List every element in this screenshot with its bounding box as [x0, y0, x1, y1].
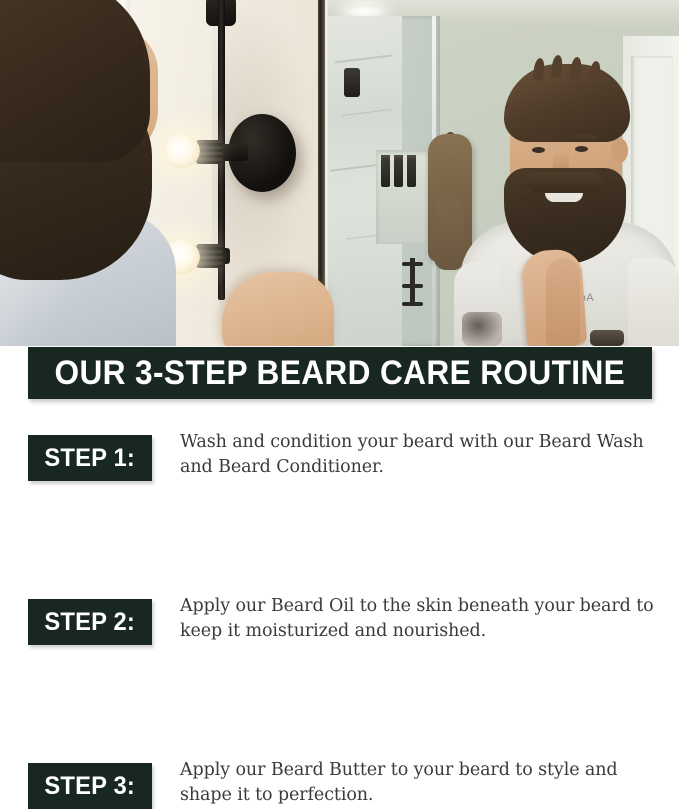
hanging-towel-fold [434, 200, 464, 270]
reflected-hand-second [546, 258, 580, 346]
step-1-text: Wash and condition your beard with our B… [180, 430, 670, 480]
step-row-3: STEP 3: Apply our Beard Butter to your b… [0, 576, 679, 658]
reflected-hair [504, 64, 630, 142]
product-bottle [381, 158, 390, 187]
step-3-label: STEP 3: [45, 772, 136, 801]
mirror-reflection: Actions [328, 0, 679, 346]
title-banner: OUR 3-STEP BEARD CARE ROUTINE [28, 347, 652, 399]
step-1-label: STEP 1: [45, 444, 136, 473]
marble-vein [342, 109, 392, 116]
hero-photo: Actions [0, 0, 679, 346]
steps-list: STEP 1: Wash and condition your beard wi… [0, 412, 679, 658]
foreground-man [0, 0, 222, 346]
step-3-chip: STEP 3: [28, 763, 152, 809]
product-bottle [407, 158, 416, 187]
product-bottle [394, 158, 403, 187]
step-1-chip: STEP 1: [28, 435, 152, 481]
step-3-text: Apply our Beard Butter to your beard to … [180, 758, 670, 808]
shower-valve-handle [402, 284, 423, 288]
wrist-watch [590, 330, 624, 346]
page-title: OUR 3-STEP BEARD CARE ROUTINE [55, 354, 626, 393]
wall-fixture [344, 68, 360, 97]
moustache [526, 172, 602, 192]
arm-tattoo [462, 312, 502, 346]
step-row-1: STEP 1: Wash and condition your beard wi… [0, 412, 679, 494]
eye [532, 147, 545, 153]
shower-valve-handle [402, 262, 423, 266]
foreground-hair [0, 0, 150, 162]
marble-vein [334, 54, 392, 63]
beard-care-routine-poster: Actions OUR 3-STEP BEARD CARE ROUTINE ST… [0, 0, 679, 679]
reflected-sleeve-right [628, 258, 679, 346]
eye [575, 146, 588, 152]
smiling-mouth [545, 193, 583, 202]
reflected-ear [611, 138, 628, 163]
step-row-2: STEP 2: Apply our Beard Oil to the skin … [0, 494, 679, 576]
shower-valve-handle [402, 302, 423, 306]
